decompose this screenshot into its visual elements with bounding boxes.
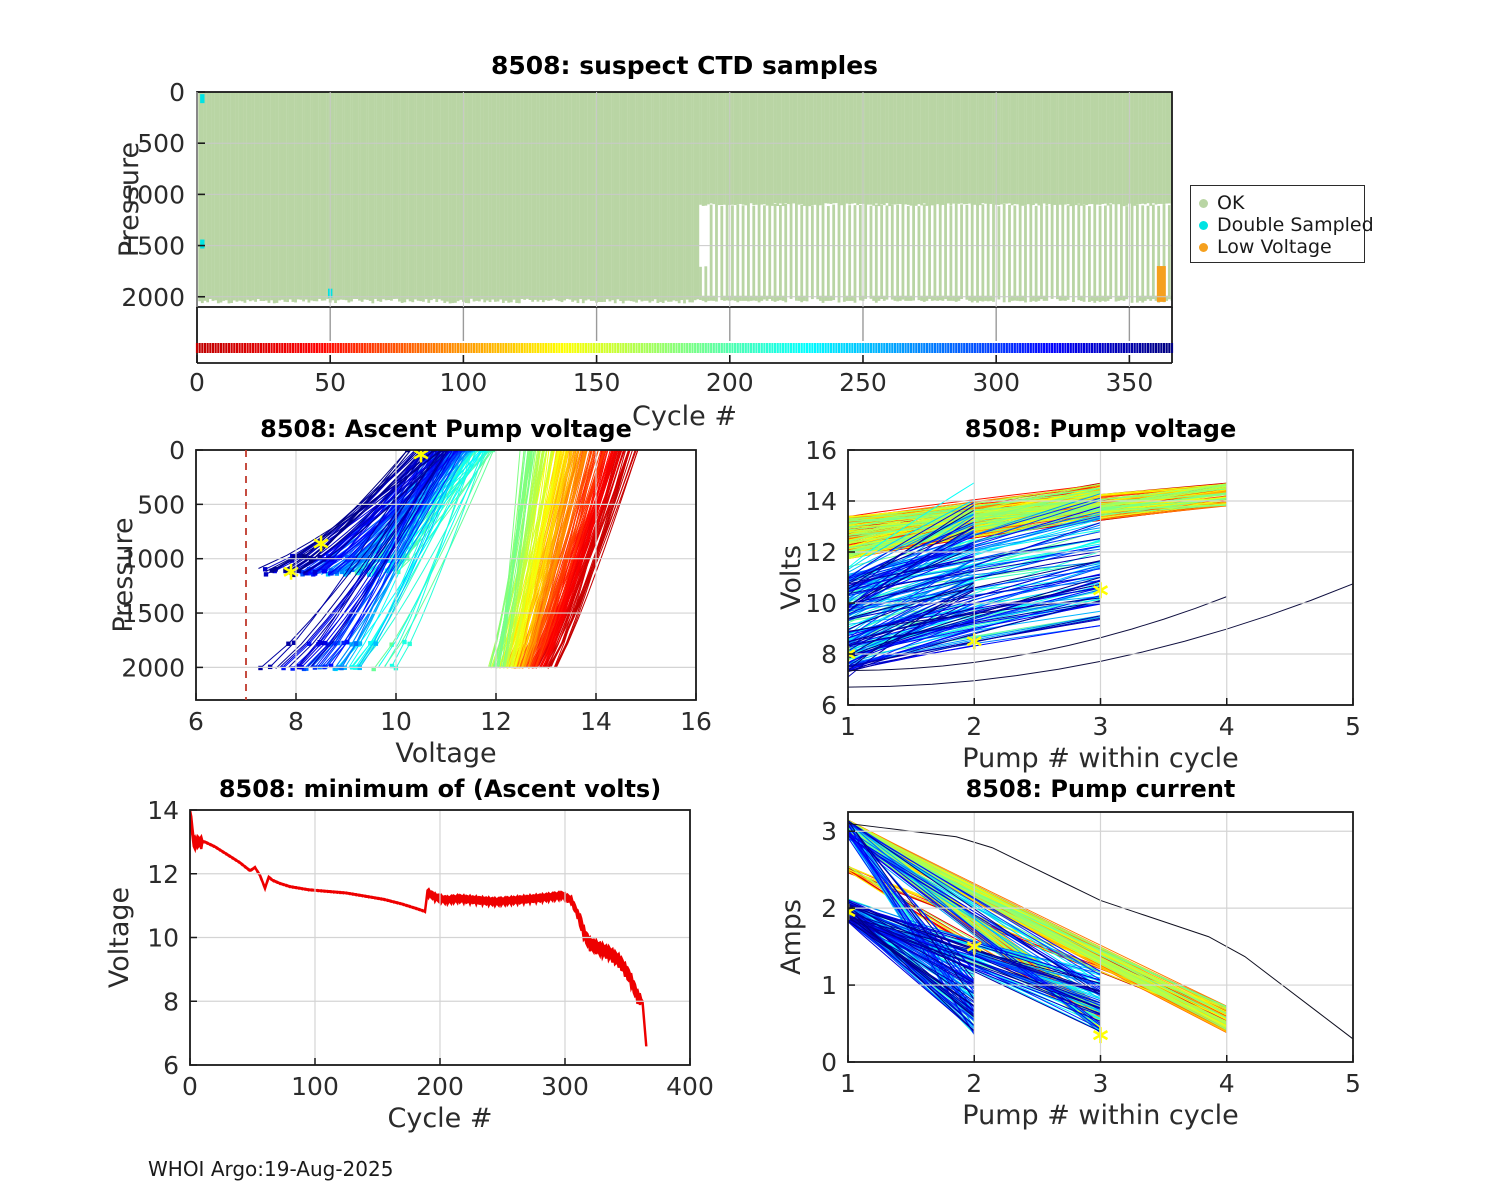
colorbar-cycle-marker — [625, 343, 627, 353]
colorbar-cycle-marker — [713, 343, 715, 353]
ok-sample-column — [726, 204, 729, 301]
colorbar-cycle-marker — [806, 343, 808, 353]
profile-point-marker — [323, 569, 327, 573]
colorbar-cycle-marker — [846, 343, 848, 353]
x-tick-label: 3 — [1093, 712, 1109, 741]
ok-sample-column — [1003, 204, 1006, 302]
colorbar-cycle-marker — [1043, 343, 1045, 353]
ok-sample-column — [1168, 92, 1171, 203]
ok-sample-column — [281, 92, 284, 300]
ok-sample-column — [217, 92, 220, 303]
ok-sample-column — [1107, 92, 1110, 206]
ok-sample-column — [1141, 205, 1144, 302]
colorbar-cycle-marker — [1016, 343, 1018, 353]
colorbar-cycle-marker — [316, 343, 318, 353]
colorbar-cycle-marker — [220, 343, 222, 353]
y-tick-label: 12 — [805, 538, 837, 567]
colorbar-cycle-marker — [795, 343, 797, 353]
colorbar-cycle-marker — [609, 343, 611, 353]
ok-sample-column — [1120, 204, 1123, 300]
ok-sample-column — [838, 92, 841, 205]
colorbar-cycle-marker — [603, 343, 605, 353]
colorbar-cycle-marker — [827, 343, 829, 353]
profile-point-marker — [374, 641, 378, 645]
ok-sample-column — [270, 92, 273, 300]
ok-sample-column — [214, 92, 217, 300]
x-tick-label: 100 — [440, 368, 488, 397]
colorbar-cycle-marker — [889, 343, 891, 353]
colorbar-cycle-marker — [707, 343, 709, 353]
colorbar-cycle-marker — [1006, 343, 1008, 353]
ok-sample-column — [526, 92, 529, 299]
ok-sample-column — [406, 92, 409, 299]
ok-sample-column — [726, 92, 729, 205]
colorbar-cycle-marker — [673, 343, 675, 353]
ok-sample-column — [467, 92, 470, 303]
y-tick-label: 10 — [805, 589, 837, 618]
colorbar-cycle-marker — [396, 343, 398, 353]
ok-sample-column — [934, 204, 937, 300]
x-tick-label: 12 — [480, 707, 512, 736]
ok-sample-column — [622, 92, 625, 303]
ok-sample-column — [784, 204, 787, 302]
colorbar-cycle-marker — [593, 343, 595, 353]
ok-sample-column — [361, 92, 364, 302]
colorbar-cycle-marker — [289, 343, 291, 353]
ok-sample-column — [675, 92, 678, 301]
ok-sample-column — [683, 92, 686, 303]
colorbar-cycle-marker — [260, 343, 262, 353]
ok-sample-column — [611, 92, 614, 300]
colorbar-cycle-marker — [585, 343, 587, 353]
panel-title: 8508: suspect CTD samples — [491, 51, 878, 80]
ok-sample-column — [369, 92, 372, 301]
ok-sample-column — [387, 92, 390, 300]
colorbar-cycle-marker — [1014, 343, 1016, 353]
y-tick-label: 2000 — [121, 283, 185, 312]
ok-sample-column — [1035, 206, 1038, 302]
ok-sample-column — [286, 92, 289, 302]
x-tick-label: 150 — [573, 368, 621, 397]
colorbar-cycle-marker — [465, 343, 467, 353]
colorbar-cycle-marker — [662, 343, 664, 353]
colorbar-cycle-marker — [572, 343, 574, 353]
ok-sample-column — [534, 92, 537, 300]
ok-sample-column — [1035, 92, 1038, 204]
ok-sample-column — [931, 92, 934, 205]
colorbar-cycle-marker — [233, 343, 235, 353]
colorbar-cycle-marker — [905, 343, 907, 353]
ok-sample-column — [236, 92, 239, 302]
ok-sample-column — [260, 92, 263, 301]
x-tick-label: 50 — [314, 368, 346, 397]
ok-sample-column — [731, 205, 734, 300]
ok-sample-column — [640, 92, 643, 301]
ok-sample-column — [587, 92, 590, 299]
colorbar-cycle-marker — [854, 343, 856, 353]
ok-sample-column — [1027, 92, 1030, 204]
ok-sample-column — [614, 92, 617, 303]
ok-sample-column — [1083, 92, 1086, 204]
ok-sample-column — [904, 92, 907, 204]
ok-sample-column — [398, 92, 401, 302]
ok-sample-column — [1008, 205, 1011, 302]
ok-sample-column — [547, 92, 550, 301]
colorbar-cycle-marker — [979, 343, 981, 353]
ok-sample-column — [1147, 206, 1150, 299]
x-tick-label: 300 — [541, 1072, 589, 1101]
ok-sample-column — [550, 92, 553, 300]
ok-sample-column — [473, 92, 476, 301]
colorbar-cycle-marker — [790, 343, 792, 353]
colorbar-cycle-marker — [753, 343, 755, 353]
colorbar-cycle-marker — [619, 343, 621, 353]
colorbar-cycle-marker — [1027, 343, 1029, 353]
y-axis-label: Pressure — [108, 517, 139, 632]
ok-sample-column — [819, 92, 822, 205]
ok-sample-column — [417, 92, 420, 301]
ok-sample-column — [401, 92, 404, 303]
ok-sample-column — [886, 206, 889, 300]
ok-sample-column — [230, 92, 233, 303]
ok-sample-column — [803, 92, 806, 206]
colorbar-cycle-marker — [809, 343, 811, 353]
colorbar-cycle-marker — [659, 343, 661, 353]
ok-sample-column — [848, 205, 851, 301]
colorbar-cycle-marker — [678, 343, 680, 353]
colorbar-cycle-marker — [1096, 343, 1098, 353]
ok-sample-column — [750, 92, 753, 203]
ok-sample-column — [747, 204, 750, 302]
ok-sample-column — [736, 205, 739, 303]
ok-sample-column — [617, 92, 620, 299]
ok-sample-column — [497, 92, 500, 301]
ok-sample-column — [606, 92, 609, 299]
colorbar-cycle-marker — [436, 343, 438, 353]
colorbar-cycle-marker — [686, 343, 688, 353]
ok-sample-column — [752, 206, 755, 301]
x-axis-label: Pump # within cycle — [962, 1100, 1238, 1131]
ok-sample-column — [790, 92, 793, 204]
ok-sample-column — [891, 92, 894, 205]
colorbar-cycle-marker — [745, 343, 747, 353]
ok-sample-column — [651, 92, 654, 301]
colorbar-cycle-marker — [936, 343, 938, 353]
colorbar-cycle-marker — [215, 343, 217, 353]
colorbar-cycle-marker — [1131, 343, 1133, 353]
double-sampled-marker — [200, 240, 204, 249]
ok-sample-column — [1101, 92, 1104, 204]
colorbar-cycle-marker — [422, 343, 424, 353]
colorbar-cycle-marker — [875, 343, 877, 353]
colorbar-cycle-marker — [294, 343, 296, 353]
ok-sample-column — [664, 92, 667, 301]
colorbar-cycle-marker — [995, 343, 997, 353]
ok-sample-column — [1091, 92, 1094, 204]
ok-sample-column — [603, 92, 606, 302]
colorbar-cycle-marker — [1099, 343, 1101, 353]
ok-sample-column — [483, 92, 486, 302]
colorbar-cycle-marker — [388, 343, 390, 353]
colorbar-cycle-marker — [811, 343, 813, 353]
ok-sample-column — [494, 92, 497, 302]
profile-point-marker — [281, 666, 285, 670]
ok-sample-column — [816, 205, 819, 299]
ok-sample-column — [779, 205, 782, 300]
colorbar-cycle-marker — [611, 343, 613, 353]
colorbar-cycle-marker — [1062, 343, 1064, 353]
y-tick-label: 0 — [169, 78, 185, 107]
colorbar-cycle-marker — [223, 343, 225, 353]
colorbar-cycle-marker — [452, 343, 454, 353]
colorbar-cycle-marker — [913, 343, 915, 353]
ok-sample-column — [846, 92, 849, 204]
colorbar-cycle-marker — [377, 343, 379, 353]
colorbar-cycle-marker — [683, 343, 685, 353]
ok-sample-column — [233, 92, 236, 300]
colorbar-cycle-marker — [694, 343, 696, 353]
y-tick-label: 6 — [821, 691, 837, 720]
ok-sample-column — [337, 92, 340, 300]
ok-sample-column — [851, 92, 854, 204]
colorbar-cycle-marker — [449, 343, 451, 353]
ok-sample-column — [875, 205, 878, 303]
ok-sample-column — [307, 92, 310, 303]
colorbar-cycle-marker — [505, 343, 507, 353]
colorbar-cycle-marker — [1019, 343, 1021, 353]
ok-sample-column — [577, 92, 580, 303]
colorbar-cycle-marker — [939, 343, 941, 353]
colorbar-cycle-marker — [1136, 343, 1138, 353]
colorbar-cycle-marker — [779, 343, 781, 353]
ok-sample-column — [710, 92, 713, 203]
ok-sample-column — [744, 92, 747, 205]
colorbar-cycle-marker — [473, 343, 475, 353]
ok-sample-column — [1141, 92, 1144, 204]
ok-sample-column — [1117, 92, 1120, 204]
ok-sample-column — [395, 92, 398, 299]
ok-sample-column — [1136, 204, 1139, 302]
ok-sample-column — [443, 92, 446, 303]
colorbar-cycle-marker — [801, 343, 803, 353]
colorbar-cycle-marker — [273, 343, 275, 353]
colorbar-cycle-marker — [838, 343, 840, 353]
colorbar-cycle-marker — [390, 343, 392, 353]
ok-sample-column — [553, 92, 556, 299]
y-tick-label: 12 — [147, 860, 179, 889]
footer-credit: WHOI Argo:19-Aug-2025 — [148, 1157, 393, 1181]
colorbar-cycle-marker — [534, 343, 536, 353]
x-tick-label: 300 — [972, 368, 1020, 397]
ok-sample-column — [952, 92, 955, 204]
ok-sample-column — [779, 92, 782, 203]
ok-sample-column — [1072, 92, 1075, 206]
ok-sample-column — [593, 92, 596, 301]
colorbar-cycle-marker — [654, 343, 656, 353]
x-tick-label: 14 — [580, 707, 612, 736]
colorbar-cycle-marker — [923, 343, 925, 353]
ok-sample-column — [1067, 92, 1070, 204]
ok-sample-column — [435, 92, 438, 302]
ok-sample-column — [505, 92, 508, 301]
ok-sample-column — [204, 92, 207, 301]
y-tick-label: 2000 — [121, 653, 185, 682]
colorbar-cycle-marker — [657, 343, 659, 353]
ok-sample-column — [481, 92, 484, 299]
ok-sample-column — [1109, 92, 1112, 203]
colorbar-cycle-marker — [934, 343, 936, 353]
colorbar-cycle-marker — [1166, 343, 1168, 353]
ok-sample-column — [1088, 206, 1091, 302]
ok-sample-column — [1045, 205, 1048, 301]
colorbar-cycle-marker — [1070, 343, 1072, 353]
colorbar-cycle-marker — [734, 343, 736, 353]
ok-sample-column — [824, 92, 827, 203]
colorbar-cycle-marker — [225, 343, 227, 353]
colorbar-cycle-marker — [532, 343, 534, 353]
colorbar-cycle-marker — [763, 343, 765, 353]
ok-sample-column — [774, 204, 777, 302]
ok-sample-column — [1013, 206, 1016, 301]
ok-sample-column — [912, 92, 915, 205]
ok-sample-column — [1165, 92, 1168, 204]
ok-sample-column — [222, 92, 225, 301]
ok-sample-column — [992, 92, 995, 204]
ok-sample-column — [787, 92, 790, 204]
colorbar-cycle-marker — [955, 343, 957, 353]
ok-sample-column — [667, 92, 670, 302]
colorbar-cycle-marker — [726, 343, 728, 353]
x-axis-label: Pump # within cycle — [962, 743, 1238, 774]
ok-sample-column — [795, 204, 798, 301]
ok-sample-column — [409, 92, 412, 301]
ok-sample-column — [262, 92, 265, 301]
colorbar-cycle-marker — [766, 343, 768, 353]
ok-sample-column — [299, 92, 302, 300]
ok-sample-column — [739, 92, 742, 204]
ok-sample-column — [1144, 92, 1147, 204]
colorbar-cycle-marker — [835, 343, 837, 353]
ok-sample-column — [427, 92, 430, 303]
ok-sample-column — [894, 92, 897, 204]
colorbar-cycle-marker — [755, 343, 757, 353]
ok-sample-column — [579, 92, 582, 299]
ok-sample-column — [574, 92, 577, 301]
ok-sample-column — [1003, 92, 1006, 204]
profile-point-marker — [313, 570, 317, 574]
colorbar-cycle-marker — [803, 343, 805, 353]
ok-sample-column — [987, 205, 990, 301]
ok-sample-column — [699, 92, 702, 205]
ok-sample-column — [702, 92, 705, 206]
colorbar-cycle-marker — [540, 343, 542, 353]
colorbar-cycle-marker — [441, 343, 443, 353]
colorbar-cycle-marker — [444, 343, 446, 353]
y-tick-label: 14 — [805, 487, 837, 516]
ok-sample-column — [963, 92, 966, 204]
colorbar-cycle-marker — [1072, 343, 1074, 353]
colorbar-cycle-marker — [244, 343, 246, 353]
ok-sample-column — [760, 92, 763, 205]
y-axis-label: Pressure — [114, 142, 145, 257]
colorbar-cycle-marker — [878, 343, 880, 353]
colorbar-cycle-marker — [1056, 343, 1058, 353]
colorbar-cycle-marker — [862, 343, 864, 353]
colorbar-cycle-marker — [769, 343, 771, 353]
profile-point-marker — [339, 666, 343, 670]
colorbar-cycle-marker — [239, 343, 241, 353]
colorbar-cycle-marker — [1163, 343, 1165, 353]
ok-sample-column — [864, 92, 867, 205]
ok-sample-column — [305, 92, 308, 300]
ok-sample-column — [1051, 92, 1054, 206]
x-tick-label: 4 — [1219, 712, 1235, 741]
colorbar-cycle-marker — [1118, 343, 1120, 353]
ok-sample-column — [502, 92, 505, 303]
ok-sample-column — [1056, 92, 1059, 204]
ok-sample-column — [1168, 205, 1171, 299]
colorbar-cycle-marker — [1171, 343, 1173, 353]
colorbar-cycle-marker — [729, 343, 731, 353]
ok-sample-column — [971, 92, 974, 205]
ok-sample-column — [688, 92, 691, 302]
legend-label: Double Sampled — [1217, 214, 1374, 236]
ok-sample-column — [598, 92, 601, 302]
colorbar-cycle-marker — [665, 343, 667, 353]
colorbar-cycle-marker — [1003, 343, 1005, 353]
ok-sample-column — [694, 92, 697, 300]
colorbar-cycle-marker — [207, 343, 209, 353]
colorbar-cycle-marker — [297, 343, 299, 353]
colorbar-cycle-marker — [542, 343, 544, 353]
colorbar-cycle-marker — [894, 343, 896, 353]
colorbar-cycle-marker — [569, 343, 571, 353]
ok-sample-column — [1163, 92, 1166, 204]
colorbar-cycle-marker — [1112, 343, 1114, 353]
ok-sample-column — [345, 92, 348, 300]
colorbar-cycle-marker — [580, 343, 582, 353]
colorbar-cycle-marker — [873, 343, 875, 353]
ok-sample-column — [758, 206, 761, 302]
ok-sample-column — [419, 92, 422, 301]
ok-sample-column — [880, 92, 883, 205]
ok-sample-column — [366, 92, 369, 300]
colorbar-cycle-marker — [1123, 343, 1125, 353]
colorbar-cycle-marker — [982, 343, 984, 353]
ok-sample-column — [968, 92, 971, 204]
ok-sample-column — [558, 92, 561, 301]
ok-sample-column — [513, 92, 516, 300]
colorbar-cycle-marker — [675, 343, 677, 353]
legend-item: Double Sampled — [1199, 214, 1356, 236]
colorbar-cycle-marker — [489, 343, 491, 353]
colorbar-cycle-marker — [324, 343, 326, 353]
ok-sample-column — [806, 92, 809, 205]
ok-sample-column — [374, 92, 377, 299]
ok-sample-column — [1077, 204, 1080, 300]
colorbar-cycle-marker — [1126, 343, 1128, 353]
colorbar-cycle-marker — [857, 343, 859, 353]
ok-sample-column — [459, 92, 462, 300]
y-tick-label: 8 — [163, 987, 179, 1016]
colorbar-cycle-marker — [702, 343, 704, 353]
ok-sample-column — [646, 92, 649, 301]
colorbar-cycle-marker — [292, 343, 294, 353]
ok-sample-column — [680, 92, 683, 300]
ok-sample-column — [630, 92, 633, 301]
colorbar-cycle-marker — [897, 343, 899, 353]
ok-sample-column — [755, 92, 758, 205]
